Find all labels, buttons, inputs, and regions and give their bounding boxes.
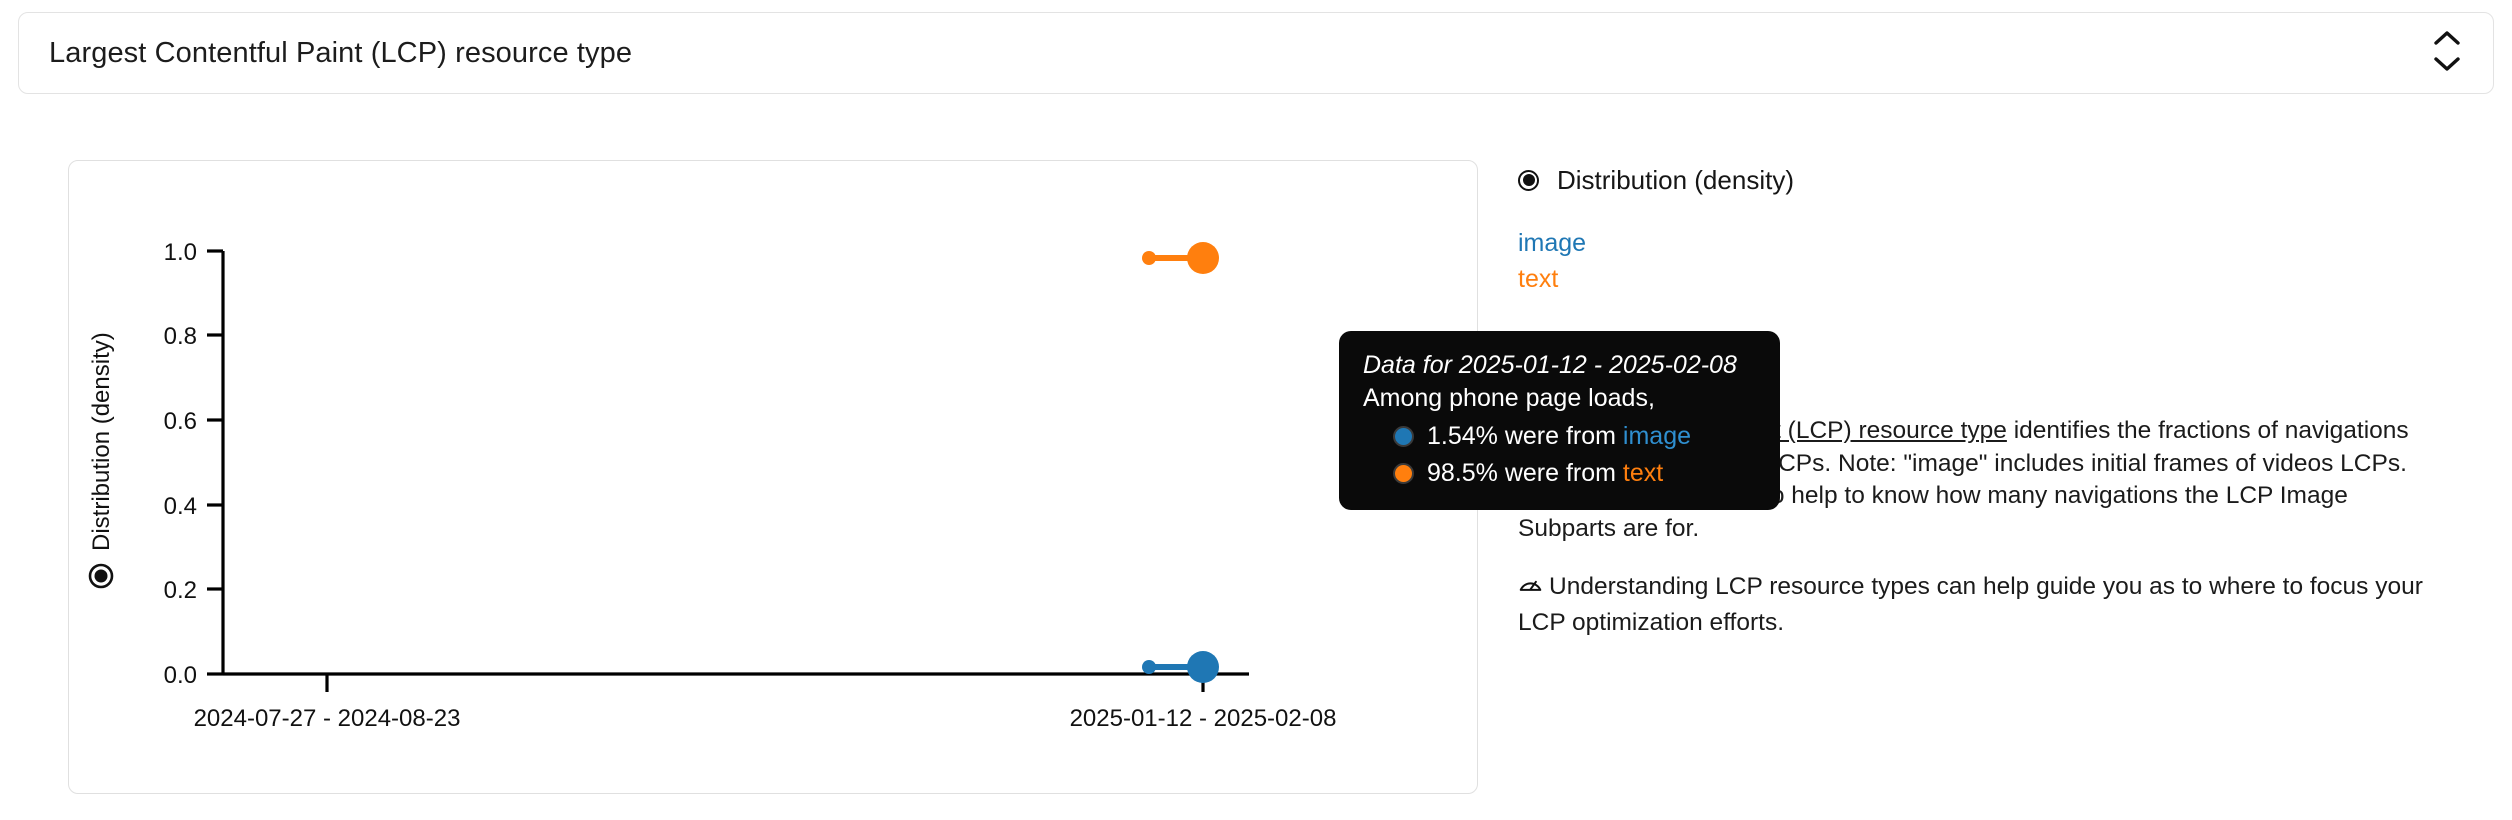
tooltip-value-text: 98.5% <box>1427 459 1498 487</box>
series-dot-image <box>1393 426 1414 447</box>
metric-radio-distribution-density[interactable]: Distribution (density) <box>1518 160 2458 200</box>
data-point-highlighted <box>1187 651 1219 683</box>
y-axis-title: Distribution (density) <box>88 332 115 551</box>
metric-radio-label: Distribution (density) <box>1557 165 1794 196</box>
tooltip-text-image: were from <box>1498 422 1623 450</box>
tooltip-row-image: 1.54% were from image <box>1363 422 1756 451</box>
data-point <box>1142 660 1156 674</box>
x-tick-labels: 2024-07-27 - 2024-08-23 2025-01-12 - 202… <box>194 705 1337 732</box>
tooltip-title: Data for 2025-01-12 - 2025-02-08 <box>1363 351 1756 380</box>
y-tick-label: 0.4 <box>164 493 197 520</box>
page-title: Largest Contentful Paint (LCP) resource … <box>49 37 632 70</box>
y-axis-title-group[interactable]: Distribution (density) <box>88 332 115 587</box>
tooltip-subtitle: Among phone page loads, <box>1363 384 1756 413</box>
speedometer-icon <box>1518 572 1543 607</box>
series-text[interactable] <box>1142 242 1219 274</box>
tooltip-text-text: were from <box>1498 459 1623 487</box>
y-tick-label: 0.2 <box>164 577 197 604</box>
panel-header[interactable]: Largest Contentful Paint (LCP) resource … <box>18 12 2494 94</box>
y-tick-labels: 1.0 0.8 0.6 0.4 0.2 0.0 <box>164 239 197 689</box>
y-axis-metric-radio-inner <box>95 570 108 583</box>
tooltip-value-image: 1.54% <box>1427 422 1498 450</box>
series-image[interactable] <box>1142 651 1219 683</box>
y-tick-label: 0.8 <box>164 323 197 350</box>
x-tick-label: 2025-01-12 - 2025-02-08 <box>1070 705 1337 732</box>
chart-card[interactable]: 1.0 0.8 0.6 0.4 0.2 0.0 Distribution (de… <box>68 160 1478 794</box>
legend-item-text[interactable]: text <box>1518 262 2458 298</box>
radio-selected-dot <box>1523 174 1535 186</box>
metric-tip: Understanding LCP resource types can hel… <box>1518 571 2448 639</box>
chevron-up-icon <box>2433 29 2461 51</box>
x-tick-label: 2024-07-27 - 2024-08-23 <box>194 705 461 732</box>
metric-tip-text: Understanding LCP resource types can hel… <box>1518 573 2423 636</box>
x-axis-ticks <box>327 674 1203 692</box>
y-tick-label: 0.6 <box>164 408 197 435</box>
chart-legend: image text <box>1518 226 2458 297</box>
tooltip-series-image: image <box>1623 422 1691 450</box>
data-point <box>1142 251 1156 265</box>
y-tick-label: 1.0 <box>164 239 197 266</box>
tooltip-series-text: text <box>1623 459 1663 487</box>
line-chart-plot[interactable]: 1.0 0.8 0.6 0.4 0.2 0.0 Distribution (de… <box>69 161 1477 793</box>
y-tick-label: 0.0 <box>164 662 197 689</box>
legend-item-image[interactable]: image <box>1518 226 2458 262</box>
chevron-down-icon <box>2433 56 2461 78</box>
series-dot-text <box>1393 463 1414 484</box>
y-axis-ticks <box>207 251 223 674</box>
radio-icon[interactable] <box>1518 170 1539 191</box>
data-point-highlighted <box>1187 242 1219 274</box>
collapse-expand-toggle[interactable] <box>2427 27 2467 79</box>
tooltip-row-text: 98.5% were from text <box>1363 459 1756 488</box>
chart-tooltip: Data for 2025-01-12 - 2025-02-08 Among p… <box>1339 331 1780 510</box>
